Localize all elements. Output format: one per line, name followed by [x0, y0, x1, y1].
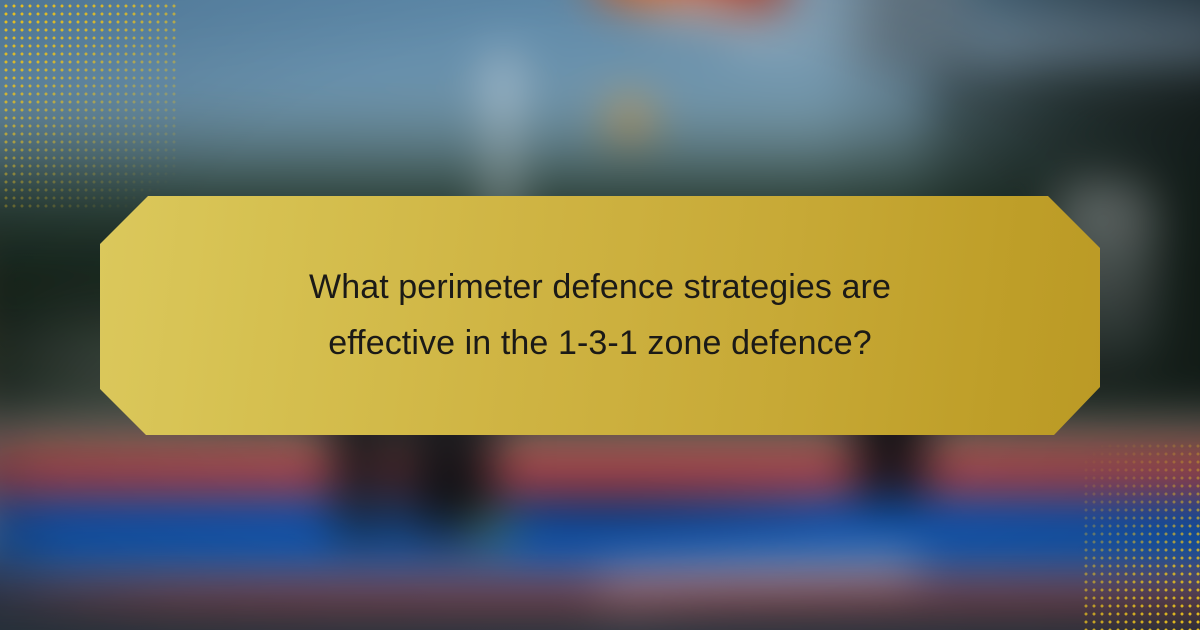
question-card-graphic: What perimeter defence strategies are ef…: [0, 0, 1200, 630]
question-line-1: What perimeter defence strategies are: [309, 260, 891, 315]
question-text: What perimeter defence strategies are ef…: [239, 260, 961, 370]
question-line-2: effective in the 1-3-1 zone defence?: [309, 316, 891, 371]
question-card: What perimeter defence strategies are ef…: [100, 196, 1100, 435]
